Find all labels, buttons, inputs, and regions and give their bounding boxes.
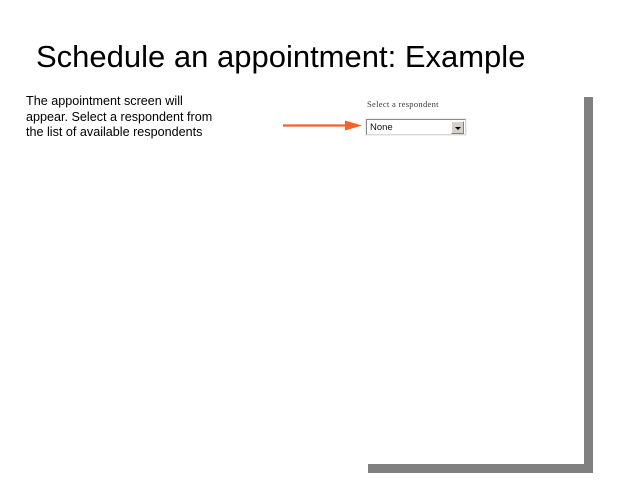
page-title: Schedule an appointment: Example [36, 38, 616, 76]
right-arrow-icon [281, 118, 365, 134]
window-shadow-bottom [368, 464, 593, 473]
respondent-select[interactable]: None [366, 119, 466, 135]
respondent-select-dropdown-button[interactable] [451, 121, 464, 134]
respondent-select-label: Select a respondent [366, 99, 468, 109]
embedded-form-screenshot: Select a respondent None [366, 99, 468, 135]
slide-canvas: Schedule an appointment: Example The app… [0, 0, 640, 480]
window-shadow-right [584, 97, 593, 473]
chevron-down-icon [455, 127, 461, 130]
body-text-line: The appointment screen will [26, 94, 258, 110]
slide-body-text: The appointment screen will appear. Sele… [26, 94, 258, 141]
respondent-select-value: None [370, 121, 393, 135]
body-text-line: the list of available respondents [26, 125, 258, 141]
body-text-line: appear. Select a respondent from [26, 110, 258, 126]
